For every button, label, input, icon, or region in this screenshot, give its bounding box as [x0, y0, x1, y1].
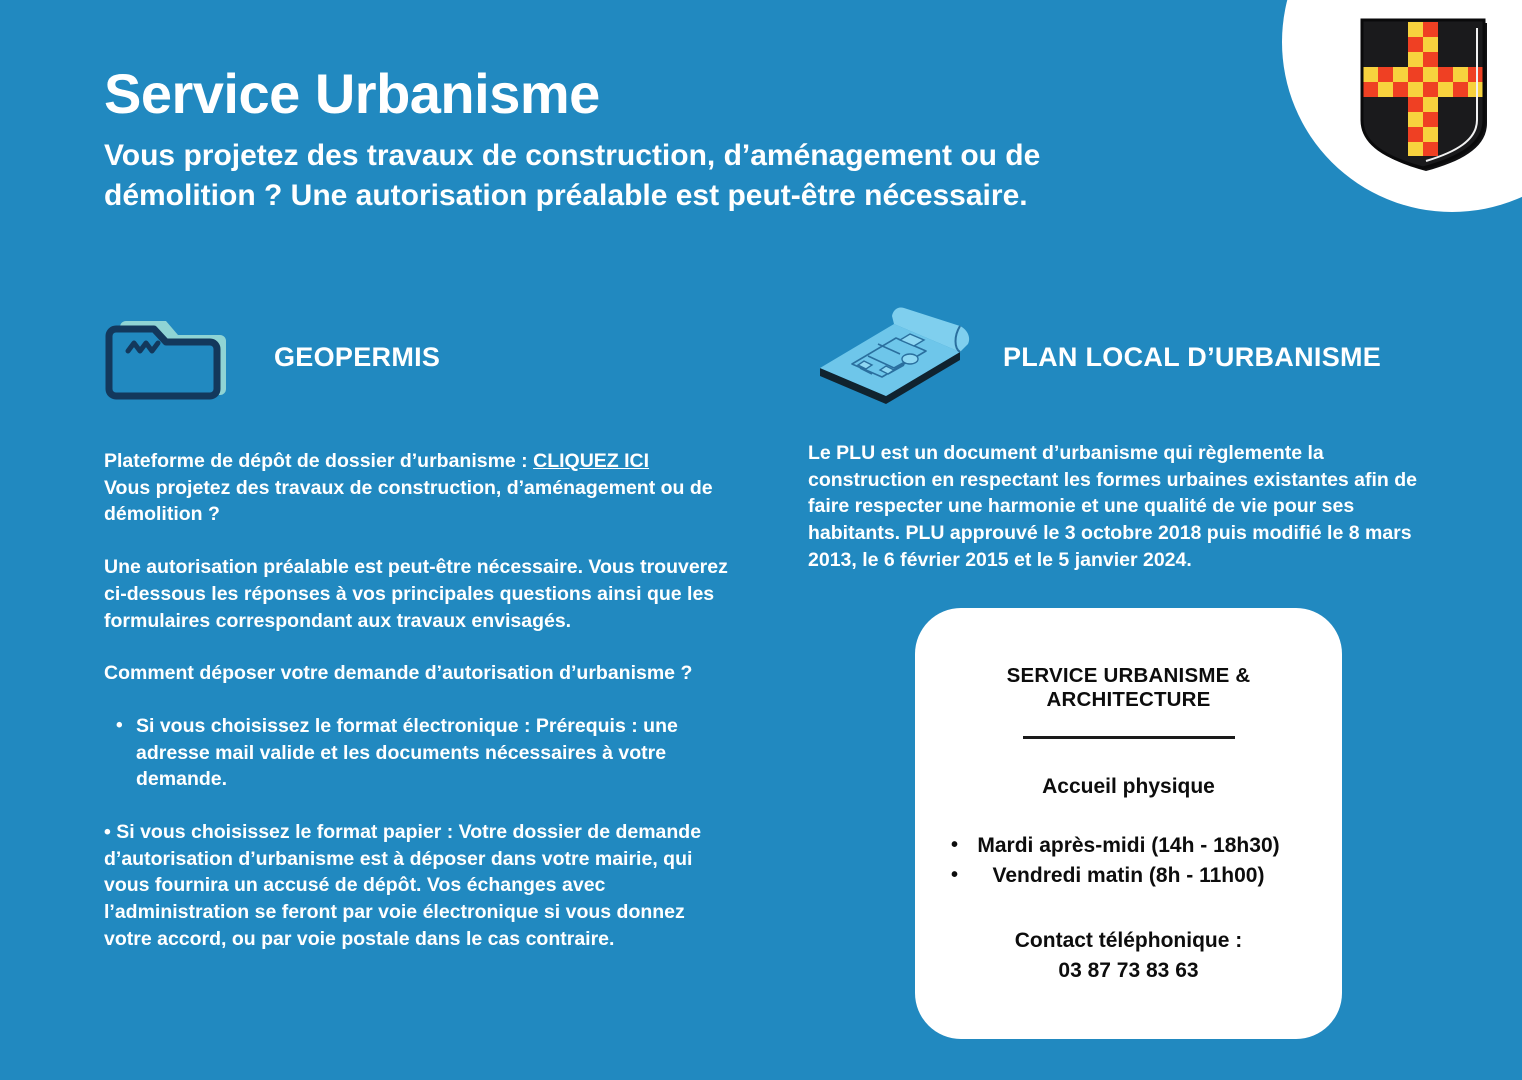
poster-header: Service Urbanisme Vous projetez des trav…: [104, 62, 1214, 216]
paragraph-authorization: Une autorisation préalable est peut-être…: [104, 554, 729, 634]
coat-of-arms-icon: [1356, 16, 1490, 172]
format-options-list: Si vous choisissez le format électroniqu…: [104, 713, 729, 793]
paragraph-how-to-submit: Comment déposer votre demande d’autorisa…: [104, 660, 729, 687]
cliquez-ici-link[interactable]: CLIQUEZ ICI: [533, 450, 649, 472]
divider: [1023, 736, 1235, 739]
geopermis-column: GEOPERMIS Plateforme de dépôt de dossier…: [104, 305, 729, 953]
blueprint-icon: [808, 304, 973, 411]
plu-title: PLAN LOCAL D’URBANISME: [1003, 342, 1381, 373]
plu-heading-row: PLAN LOCAL D’URBANISME: [808, 305, 1428, 410]
list-item: Si vous choisissez le format électroniqu…: [104, 713, 729, 793]
paragraph-plu-description: Le PLU est un document d’urbanisme qui r…: [808, 440, 1428, 574]
contact-phone-label: Contact téléphonique :: [941, 926, 1316, 956]
geopermis-body: Plateforme de dépôt de dossier d’urbanis…: [104, 448, 729, 953]
contact-phone-block: Contact téléphonique : 03 87 73 83 63: [941, 926, 1316, 986]
paragraph-paper-format: • Si vous choisissez le format papier : …: [104, 819, 729, 953]
contact-card-title: SERVICE URBANISME & ARCHITECTURE: [941, 664, 1316, 712]
plu-column: PLAN LOCAL D’URBANISME Le PLU est un doc…: [808, 305, 1428, 574]
contact-card-subtitle: Accueil physique: [941, 775, 1316, 799]
paragraph-platform: Plateforme de dépôt de dossier d’urbanis…: [104, 448, 729, 528]
page-subtitle: Vous projetez des travaux de constructio…: [104, 136, 1194, 215]
platform-question: Vous projetez des travaux de constructio…: [104, 477, 713, 526]
platform-label: Plateforme de dépôt de dossier d’urbanis…: [104, 450, 533, 472]
contact-card: SERVICE URBANISME & ARCHITECTURE Accueil…: [915, 608, 1342, 1039]
list-item: Vendredi matin (8h - 11h00): [941, 861, 1316, 891]
page-title: Service Urbanisme: [104, 62, 1214, 126]
opening-hours-list: Mardi après-midi (14h - 18h30) Vendredi …: [941, 831, 1316, 892]
plu-body: Le PLU est un document d’urbanisme qui r…: [808, 440, 1428, 574]
poster-canvas: Service Urbanisme Vous projetez des trav…: [0, 0, 1522, 1080]
contact-phone-number[interactable]: 03 87 73 83 63: [941, 956, 1316, 986]
geopermis-title: GEOPERMIS: [274, 342, 440, 373]
geopermis-heading-row: GEOPERMIS: [104, 305, 729, 410]
folder-icon: [104, 307, 230, 408]
list-item: Mardi après-midi (14h - 18h30): [941, 831, 1316, 861]
